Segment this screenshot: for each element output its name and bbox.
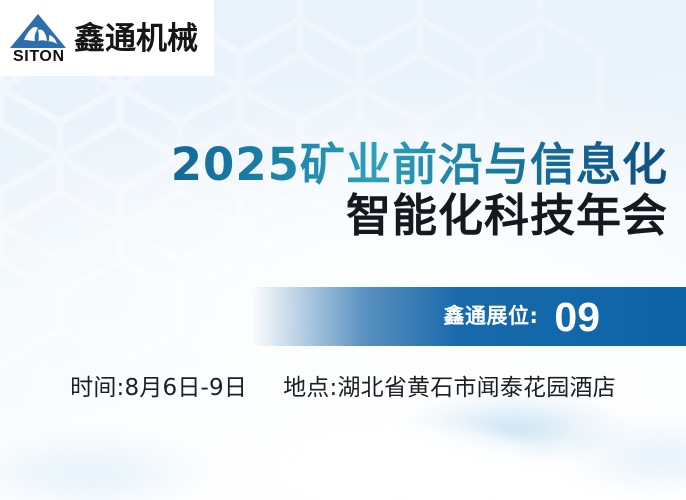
logo-latin-name: SITON bbox=[13, 49, 65, 65]
page-title: 2025矿业前沿与信息化 智能化科技年会 bbox=[0, 140, 668, 242]
booth-number: 09 bbox=[554, 297, 600, 338]
booth-banner: 鑫通展位: 09 bbox=[252, 287, 686, 346]
cloud-wisp-decoration bbox=[250, 424, 550, 500]
company-logo: SITON 鑫通机械 bbox=[0, 0, 214, 76]
event-details: 时间:8月6日-9日 地点:湖北省黄石市闻泰花园酒店 bbox=[0, 368, 686, 402]
logo-chinese-name: 鑫通机械 bbox=[74, 24, 198, 55]
cloud-wisp-decoration bbox=[0, 430, 220, 500]
title-line-1: 2025矿业前沿与信息化 bbox=[0, 140, 668, 190]
cloud-wisp-decoration bbox=[560, 418, 686, 498]
event-poster: SITON 鑫通机械 2025矿业前沿与信息化 智能化科技年会 鑫通展位: 09… bbox=[0, 0, 686, 500]
cloud-wisp-decoration bbox=[400, 392, 630, 464]
event-venue: 地点:湖北省黄石市闻泰花园酒店 bbox=[283, 368, 616, 402]
booth-label: 鑫通展位: bbox=[443, 306, 538, 327]
event-date: 时间:8月6日-9日 bbox=[70, 368, 247, 402]
title-line-2: 智能化科技年会 bbox=[0, 190, 668, 242]
mountain-logo-icon: SITON bbox=[8, 10, 70, 66]
